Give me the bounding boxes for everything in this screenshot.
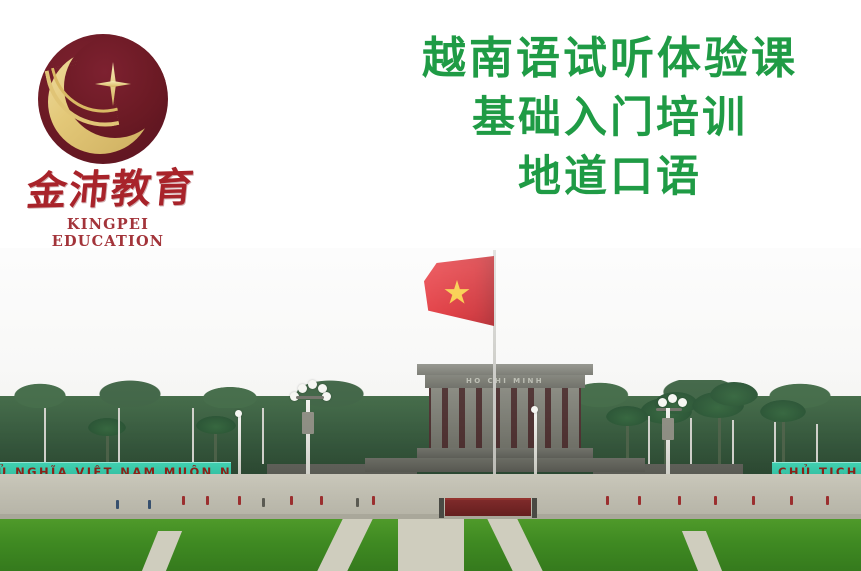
person: [148, 500, 151, 509]
flagpole-small: [774, 422, 776, 464]
lawn-path-center: [398, 519, 464, 571]
flagpole-small: [732, 420, 734, 464]
mausoleum-building: HO CHI MINH: [417, 364, 593, 472]
four-point-star-icon: [95, 62, 131, 106]
flagpole-small: [44, 408, 46, 464]
person: [116, 500, 119, 509]
person: [752, 496, 755, 505]
headline-line-3: 地道口语: [380, 155, 840, 200]
person: [678, 496, 681, 505]
brand-name-en: KINGPEI EDUCATION: [8, 216, 208, 250]
plaza-ground: [0, 474, 861, 516]
person: [238, 496, 241, 505]
person: [262, 498, 265, 507]
brand-name-cn: 金沛教育: [12, 167, 210, 212]
ceremonial-stand: [445, 498, 531, 516]
poster-canvas: 金沛教育 KINGPEI EDUCATION 越南语试听体验课 基础入门培训 地…: [0, 0, 861, 571]
headline-block: 越南语试听体验课 基础入门培训 地道口语: [380, 36, 840, 200]
mausoleum-cornice: [417, 364, 593, 375]
person: [182, 496, 185, 505]
person: [206, 496, 209, 505]
flagpole-small: [192, 408, 194, 464]
mausoleum-colonnade: [429, 388, 581, 448]
person: [790, 496, 793, 505]
person: [320, 496, 323, 505]
flagpole-small: [118, 408, 120, 464]
header-band: 金沛教育 KINGPEI EDUCATION 越南语试听体验课 基础入门培训 地…: [0, 0, 861, 248]
person: [372, 496, 375, 505]
person: [606, 496, 609, 505]
flagpole-small: [690, 418, 692, 464]
person: [826, 496, 829, 505]
headline-line-1: 越南语试听体验课: [380, 36, 840, 82]
mausoleum-frieze-text: HO CHI MINH: [425, 375, 585, 388]
person: [356, 498, 359, 507]
headline-line-2: 基础入门培训: [380, 96, 840, 141]
crescent-star-emblem-icon: [38, 34, 168, 164]
flagpole-small: [262, 408, 264, 464]
flagpole-small: [648, 416, 650, 464]
person: [638, 496, 641, 505]
person: [290, 496, 293, 505]
brand-logo[interactable]: 金沛教育 KINGPEI EDUCATION: [8, 20, 208, 235]
mausoleum-base: [417, 448, 593, 458]
mausoleum-plinth: [365, 458, 645, 472]
scene-photo: HO CHI MINH Ủ NGHĨA VIỆT NAM MUÔN NĂM ! …: [0, 248, 861, 571]
person: [714, 496, 717, 505]
flagpole-small: [816, 424, 818, 464]
